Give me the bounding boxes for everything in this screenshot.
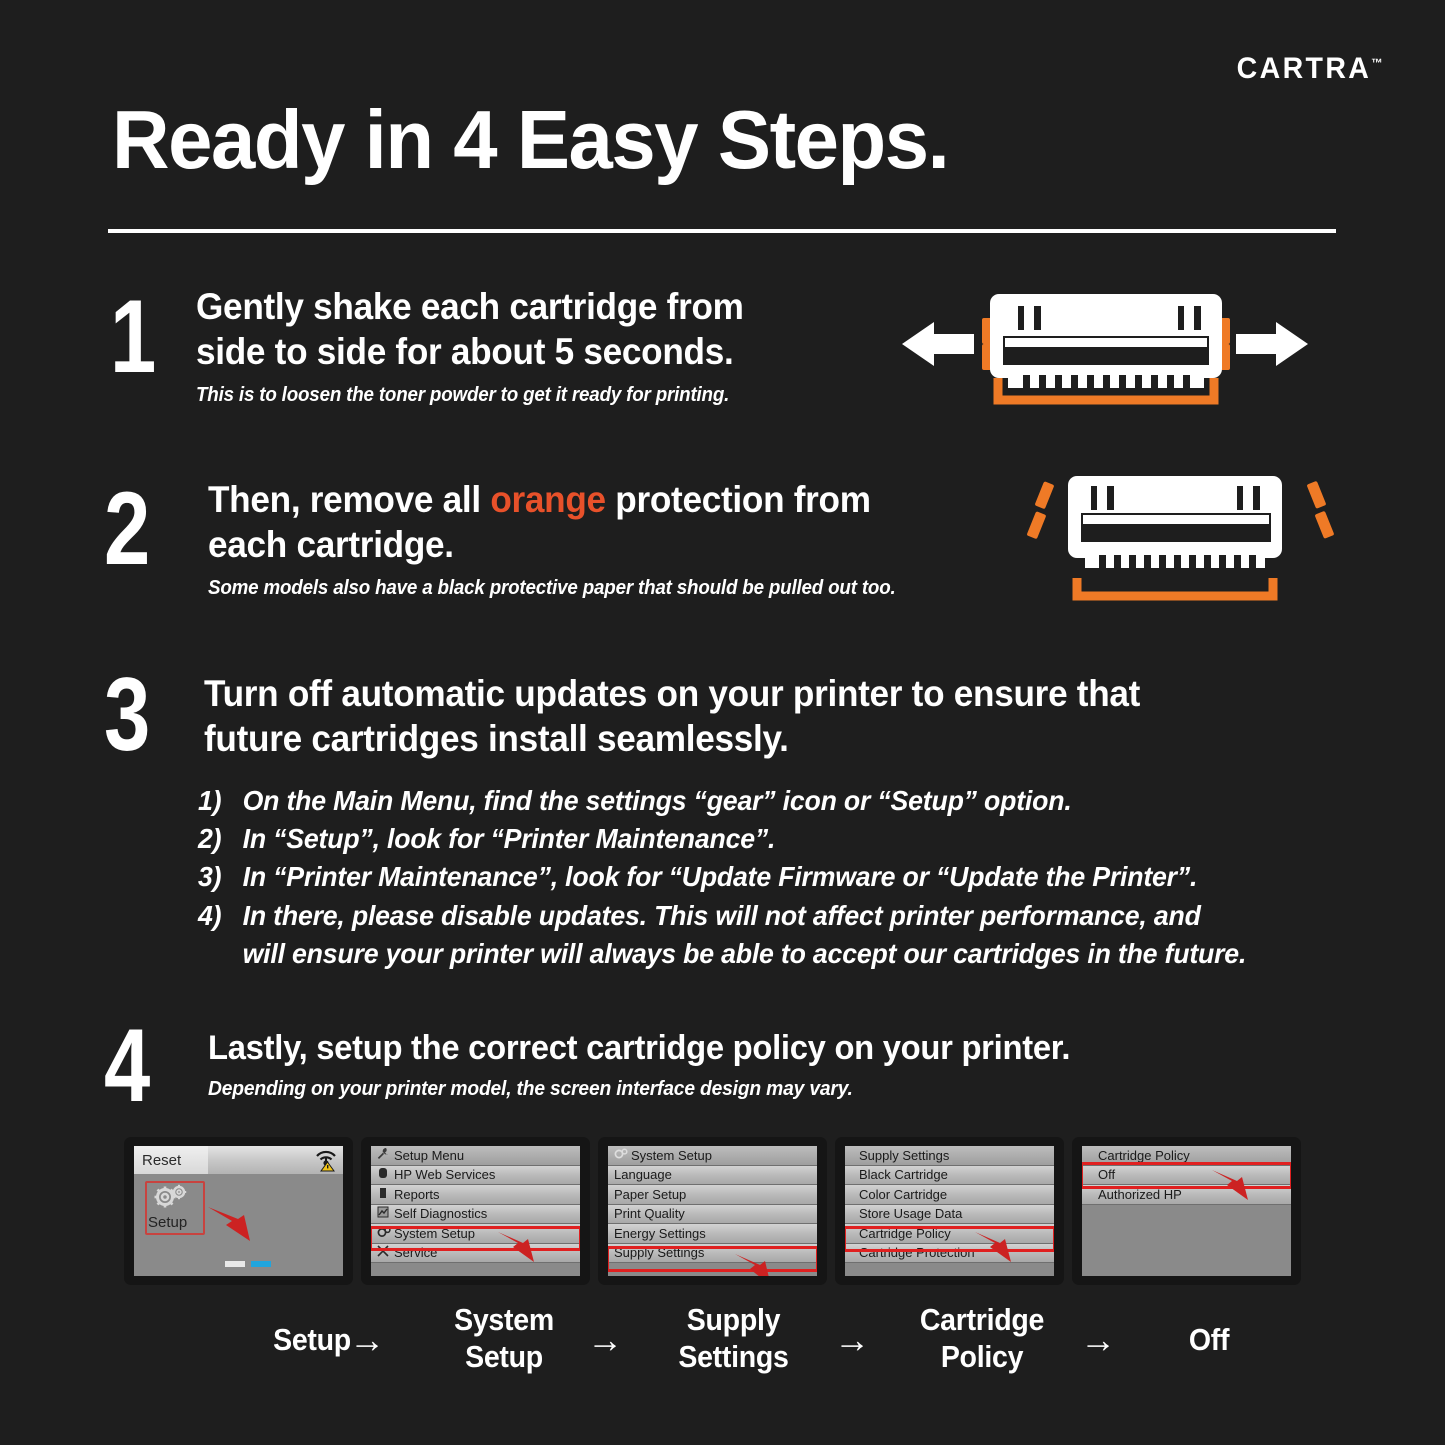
step-3-text: Turn off automatic updates on your print… bbox=[204, 671, 1189, 761]
step-2-text: Then, remove all orange protection from … bbox=[208, 477, 939, 601]
screen-setup-menu-inner: Setup Menu HP Web Services Reports bbox=[371, 1146, 580, 1276]
flow-label-off: Off bbox=[1140, 1322, 1278, 1359]
menu-row-label: System Setup bbox=[394, 1226, 475, 1241]
menu-row-label: Setup Menu bbox=[394, 1148, 464, 1163]
menu-row-label: Cartridge Policy bbox=[1098, 1148, 1190, 1163]
flow-arrow-4-icon: → bbox=[1080, 1322, 1116, 1358]
menu-row-label: Energy Settings bbox=[614, 1226, 706, 1241]
menu-row-label: Reports bbox=[394, 1187, 440, 1202]
menu-row-cartridge-policy[interactable]: Cartridge Policy bbox=[845, 1224, 1054, 1244]
printer-screen-system-setup[interactable]: System Setup Language Paper Setup Print … bbox=[598, 1137, 827, 1285]
substep-marker: 3) bbox=[198, 858, 243, 896]
step-4-subtext: Depending on your printer model, the scr… bbox=[208, 1076, 1061, 1102]
menu-row-label: HP Web Services bbox=[394, 1167, 495, 1182]
menu-row-store-usage-data[interactable]: Store Usage Data bbox=[845, 1205, 1054, 1225]
menu-row-supply-settings[interactable]: Supply Settings bbox=[608, 1244, 817, 1264]
menu-row-cartridge-protection[interactable]: Cartridge Protection bbox=[845, 1244, 1054, 1264]
system-setup-list: System Setup Language Paper Setup Print … bbox=[608, 1146, 817, 1263]
substep-text-continuation: will ensure your printer will always be … bbox=[198, 935, 1246, 973]
menu-row-color-cartridge[interactable]: Color Cartridge bbox=[845, 1185, 1054, 1205]
step-4-number: 4 bbox=[104, 1014, 150, 1118]
menu-row-label: Store Usage Data bbox=[859, 1206, 962, 1221]
page-indicator-inactive bbox=[225, 1261, 245, 1267]
step-1-heading-line-1: Gently shake each cartridge from bbox=[196, 284, 744, 329]
arrow-left-icon bbox=[902, 322, 974, 366]
step-3-heading-line-2: future cartridges install seamlessly. bbox=[204, 716, 1140, 761]
step-3-substep: 4) In there, please disable updates. Thi… bbox=[198, 897, 1246, 935]
menu-row-label: Cartridge Policy bbox=[859, 1226, 951, 1241]
menu-row-label: Paper Setup bbox=[614, 1187, 686, 1202]
document-icon bbox=[377, 1187, 394, 1202]
flow-arrow-2-icon: → bbox=[587, 1322, 623, 1358]
printer-screen-cartridge-policy[interactable]: Cartridge Policy Off Authorized HP bbox=[1072, 1137, 1301, 1285]
flow-arrow-3-icon: → bbox=[834, 1322, 870, 1358]
chart-icon bbox=[377, 1206, 394, 1221]
poster-root: CARTRA™ Ready in 4 Easy Steps. 1 Gently … bbox=[0, 0, 1445, 1445]
step-3-number: 3 bbox=[104, 663, 150, 767]
supply-settings-list: Supply Settings Black Cartridge Color Ca… bbox=[845, 1146, 1054, 1263]
substep-marker: 1) bbox=[198, 782, 243, 820]
step-2-heading-post: protection from bbox=[606, 479, 871, 520]
orange-piece-icon bbox=[1306, 481, 1334, 539]
title-divider bbox=[108, 229, 1336, 233]
menu-row-label: Cartridge Protection bbox=[859, 1245, 975, 1260]
step-2-heading-highlight: orange bbox=[490, 479, 605, 520]
menu-row-label: Print Quality bbox=[614, 1206, 685, 1221]
trademark-symbol: ™ bbox=[1372, 56, 1383, 70]
globe-icon bbox=[377, 1167, 394, 1182]
step-2-number: 2 bbox=[104, 477, 150, 581]
pointer-arrow-icon bbox=[206, 1201, 276, 1246]
flow-labels: Setup → System Setup → Supply Settings →… bbox=[124, 1296, 1324, 1406]
wifi-warning-icon bbox=[313, 1148, 339, 1172]
step-1-number: 1 bbox=[110, 285, 156, 389]
screen-home-inner: Reset bbox=[134, 1146, 343, 1276]
menu-row-label: System Setup bbox=[631, 1148, 712, 1163]
menu-row-setup-menu: Setup Menu bbox=[371, 1146, 580, 1166]
menu-row-label: Language bbox=[614, 1167, 672, 1182]
gears-icon bbox=[377, 1226, 394, 1241]
menu-row-label: Supply Settings bbox=[614, 1245, 704, 1260]
gears-icon bbox=[614, 1148, 631, 1163]
menu-row-paper-setup[interactable]: Paper Setup bbox=[608, 1185, 817, 1205]
menu-row-label: Self Diagnostics bbox=[394, 1206, 487, 1221]
printer-screen-supply-settings[interactable]: Supply Settings Black Cartridge Color Ca… bbox=[835, 1137, 1064, 1285]
tools-icon bbox=[377, 1245, 394, 1260]
step-3-substep-list: 1) On the Main Menu, find the settings “… bbox=[198, 782, 1246, 973]
orange-piece-icon bbox=[1026, 481, 1054, 539]
substep-text: In “Setup”, look for “Printer Maintenanc… bbox=[243, 820, 776, 858]
page-indicator-active bbox=[251, 1261, 271, 1267]
substep-marker: 2) bbox=[198, 820, 243, 858]
menu-row-reports[interactable]: Reports bbox=[371, 1185, 580, 1205]
step-4-text: Lastly, setup the correct cartridge poli… bbox=[208, 1027, 1116, 1102]
menu-row-label: Supply Settings bbox=[859, 1148, 949, 1163]
step-1-subtext: This is to loosen the toner powder to ge… bbox=[196, 383, 738, 408]
setup-menu-list: Setup Menu HP Web Services Reports bbox=[371, 1146, 580, 1263]
screen-cartridge-policy-inner: Cartridge Policy Off Authorized HP bbox=[1082, 1146, 1291, 1276]
step-3-substep: 3) In “Printer Maintenance”, look for “U… bbox=[198, 858, 1246, 896]
menu-row-black-cartridge[interactable]: Black Cartridge bbox=[845, 1166, 1054, 1186]
menu-row-language[interactable]: Language bbox=[608, 1166, 817, 1186]
printer-screen-sequence: Reset bbox=[124, 1137, 1301, 1285]
step-4-heading-line-1: Lastly, setup the correct cartridge poli… bbox=[208, 1027, 1070, 1069]
screen-supply-settings-inner: Supply Settings Black Cartridge Color Ca… bbox=[845, 1146, 1054, 1276]
menu-row-system-setup[interactable]: System Setup bbox=[371, 1224, 580, 1244]
step-2-heading-line-2: each cartridge. bbox=[208, 522, 903, 567]
menu-row-energy-settings[interactable]: Energy Settings bbox=[608, 1224, 817, 1244]
menu-row-label: Service bbox=[394, 1245, 437, 1260]
flow-label-supply-settings: Supply Settings bbox=[644, 1302, 823, 1375]
setup-tile-label[interactable]: Setup bbox=[148, 1214, 187, 1231]
printer-screen-setup-menu[interactable]: Setup Menu HP Web Services Reports bbox=[361, 1137, 590, 1285]
menu-row-self-diagnostics[interactable]: Self Diagnostics bbox=[371, 1205, 580, 1225]
menu-row-system-setup: System Setup bbox=[608, 1146, 817, 1166]
substep-text: On the Main Menu, find the settings “gea… bbox=[243, 782, 1072, 820]
menu-row-print-quality[interactable]: Print Quality bbox=[608, 1205, 817, 1225]
step-3-substep: 2) In “Setup”, look for “Printer Mainten… bbox=[198, 820, 1246, 858]
menu-row-label: Color Cartridge bbox=[859, 1187, 947, 1202]
flow-label-cartridge-policy: Cartridge Policy bbox=[890, 1302, 1074, 1375]
cartridge-shake-illustration bbox=[890, 282, 1320, 412]
step-1-heading-line-2: side to side for about 5 seconds. bbox=[196, 329, 744, 374]
step-1-text: Gently shake each cartridge from side to… bbox=[196, 284, 772, 408]
menu-row-label: Black Cartridge bbox=[859, 1167, 948, 1182]
menu-row-label: Off bbox=[1098, 1167, 1115, 1182]
brand-logo: CARTRA™ bbox=[1237, 52, 1383, 86]
menu-row-supply-settings: Supply Settings bbox=[845, 1146, 1054, 1166]
menu-row-service[interactable]: Service bbox=[371, 1244, 580, 1264]
step-2-heading-pre: Then, remove all bbox=[208, 479, 490, 520]
page-title: Ready in 4 Easy Steps. bbox=[112, 98, 948, 181]
flow-arrow-1-icon: → bbox=[349, 1322, 385, 1358]
reset-button[interactable]: Reset bbox=[134, 1146, 208, 1174]
menu-row-off[interactable]: Off bbox=[1082, 1166, 1291, 1186]
substep-text: In there, please disable updates. This w… bbox=[243, 897, 1201, 935]
menu-row-authorized-hp[interactable]: Authorized HP bbox=[1082, 1185, 1291, 1205]
cartridge-remove-svg bbox=[1015, 468, 1345, 608]
substep-text: In “Printer Maintenance”, look for “Upda… bbox=[243, 858, 1198, 896]
printer-screen-home[interactable]: Reset bbox=[124, 1137, 353, 1285]
menu-row-cartridge-policy: Cartridge Policy bbox=[1082, 1146, 1291, 1166]
cartridge-policy-list: Cartridge Policy Off Authorized HP bbox=[1082, 1146, 1291, 1205]
step-3-substep: 1) On the Main Menu, find the settings “… bbox=[198, 782, 1246, 820]
screen-system-setup-inner: System Setup Language Paper Setup Print … bbox=[608, 1146, 817, 1276]
wrench-icon bbox=[377, 1147, 394, 1163]
step-3-heading-line-1: Turn off automatic updates on your print… bbox=[204, 671, 1140, 716]
flow-label-system-setup: System Setup bbox=[421, 1302, 587, 1375]
gears-icon bbox=[153, 1184, 187, 1210]
cartridge-shake-svg bbox=[890, 282, 1320, 412]
step-2-heading-line-1: Then, remove all orange protection from bbox=[208, 477, 903, 522]
substep-marker: 4) bbox=[198, 897, 243, 935]
menu-row-hp-web-services[interactable]: HP Web Services bbox=[371, 1166, 580, 1186]
cartridge-remove-protection-illustration bbox=[1015, 468, 1345, 608]
arrow-right-icon bbox=[1236, 322, 1308, 366]
menu-row-label: Authorized HP bbox=[1098, 1187, 1182, 1202]
brand-name: CARTRA bbox=[1237, 52, 1372, 85]
step-2-subtext: Some models also have a black protective… bbox=[208, 576, 896, 601]
